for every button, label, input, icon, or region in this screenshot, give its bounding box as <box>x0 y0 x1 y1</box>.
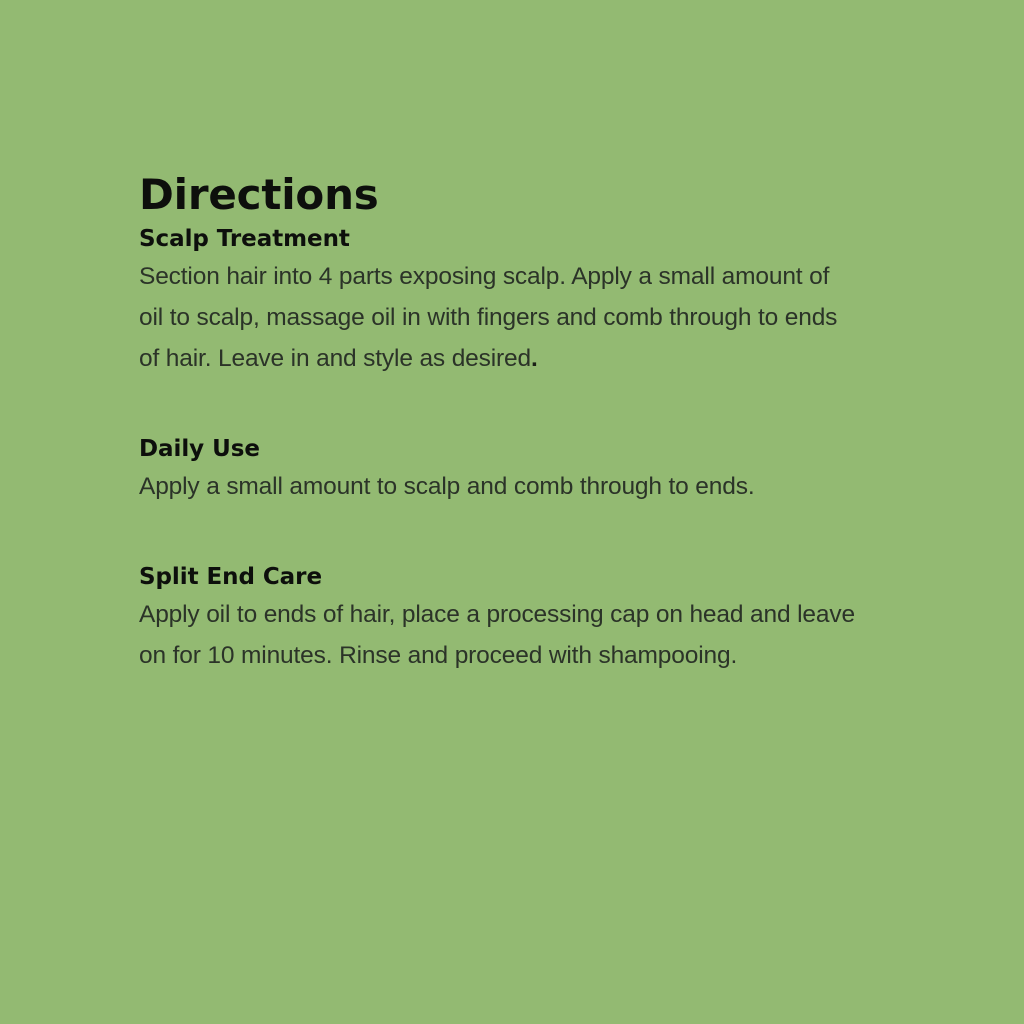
section-daily-use: Daily Use Apply a small amount to scalp … <box>139 435 869 507</box>
section-split-end-care: Split End Care Apply oil to ends of hair… <box>139 563 869 676</box>
section-heading: Scalp Treatment <box>139 225 869 254</box>
section-heading: Split End Care <box>139 563 869 592</box>
section-body: Section hair into 4 parts exposing scalp… <box>139 256 855 379</box>
section-body-period: . <box>531 345 538 372</box>
directions-content: Directions Scalp Treatment Section hair … <box>139 172 869 676</box>
directions-card: Directions Scalp Treatment Section hair … <box>0 0 1024 1024</box>
section-scalp-treatment: Scalp Treatment Section hair into 4 part… <box>139 225 869 379</box>
section-body-text: Section hair into 4 parts exposing scalp… <box>139 263 837 372</box>
section-heading: Daily Use <box>139 435 869 464</box>
page-title: Directions <box>139 172 869 217</box>
section-body: Apply a small amount to scalp and comb t… <box>139 466 855 507</box>
section-body: Apply oil to ends of hair, place a proce… <box>139 594 855 676</box>
